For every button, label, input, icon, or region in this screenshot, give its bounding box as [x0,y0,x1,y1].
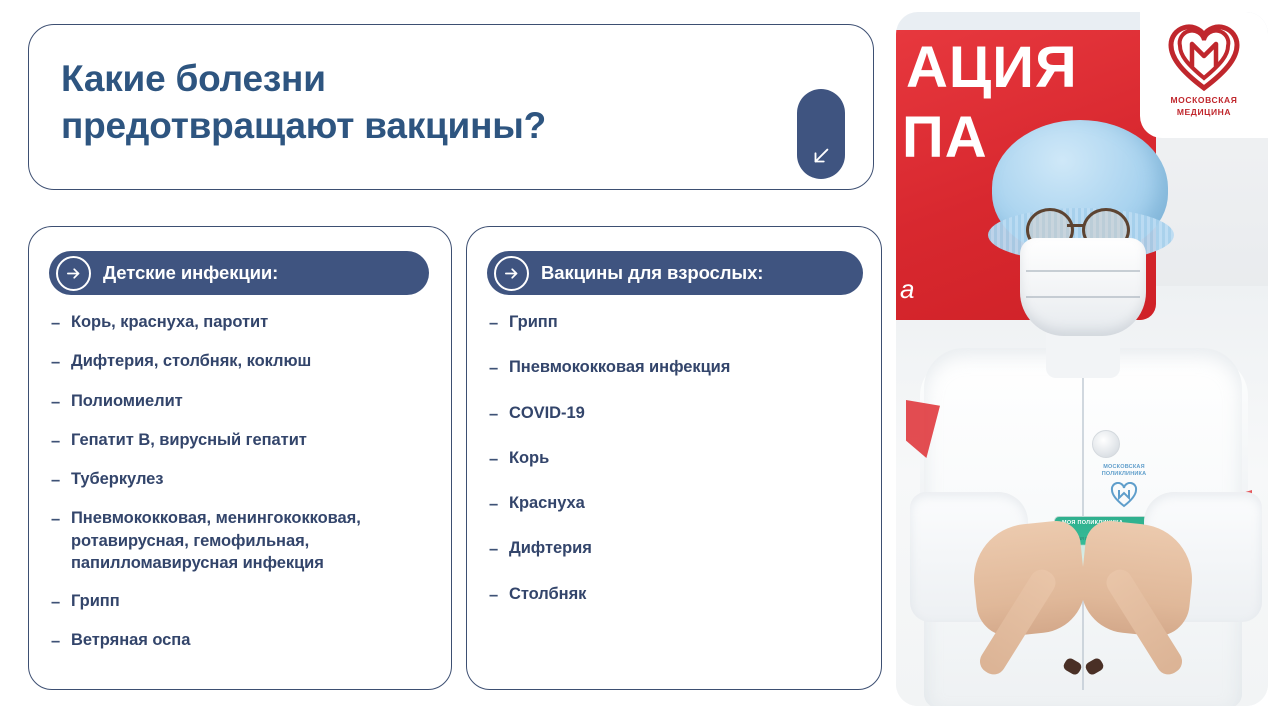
list-bullet: – [489,537,509,560]
badge-heart-icon [1110,482,1138,508]
list-bullet: – [489,402,509,425]
list-bullet: – [489,447,509,470]
list-bullet: – [51,590,71,613]
list-item-label: COVID-19 [509,402,585,424]
list-item-label: Пневмококковая, менингококковая, ротавир… [71,507,437,574]
list-item: – Ветряная оспа [51,629,437,652]
arrow-right-circle-icon [56,256,91,291]
scroll-down-button[interactable] [797,89,845,179]
title-card: Какие болезни предотвращают вакцины? [28,24,874,190]
face-mask [1020,238,1146,336]
list-item: – COVID-19 [489,402,867,425]
moscow-medicine-heart-logo-icon [1168,24,1240,97]
slide-root: Какие болезни предотвращают вакцины? Дет… [0,0,1280,720]
list-item: – Грипп [489,311,867,334]
list-item-label: Краснуха [509,492,585,514]
list-item: – Гепатит B, вирусный гепатит [51,429,437,452]
list-item: – Пневмококковая, менингококковая, ротав… [51,507,437,574]
list-item: – Грипп [51,590,437,613]
glasses-bridge [1067,224,1083,227]
list-item: – Полиомиелит [51,390,437,413]
list-bullet: – [489,492,509,515]
list-bullet: – [489,583,509,606]
arrow-down-left-icon [810,145,832,167]
list-bullet: – [51,629,71,652]
list-item: – Столбняк [489,583,867,606]
list-bullet: – [51,311,71,334]
badge-reel-icon [1092,430,1120,458]
list-item-label: Дифтерия [509,537,592,559]
face-mask-fold [1026,270,1140,272]
list-item-label: Столбняк [509,583,586,605]
list-bullet: – [489,356,509,379]
list-item-label: Туберкулез [71,468,163,490]
list-item-label: Пневмококковая инфекция [509,356,730,378]
card-header-label: Вакцины для взрослых: [541,262,763,284]
list-item: – Корь [489,447,867,470]
list-item: – Пневмококковая инфекция [489,356,867,379]
adult-vaccines-list: – Грипп – Пневмококковая инфекция – COVI… [489,311,867,628]
page-title: Какие болезни предотвращают вакцины? [61,55,761,150]
list-item: – Туберкулез [51,468,437,491]
moscow-medicine-logo-text: МОСКОВСКАЯ МЕДИЦИНА [1140,94,1268,119]
card-adult-vaccines: Вакцины для взрослых: – Грипп – Пневмоко… [466,226,882,690]
list-item-label: Грипп [71,590,120,612]
list-bullet: – [51,507,71,530]
list-item-label: Полиомиелит [71,390,183,412]
children-infections-list: – Корь, краснуха, паротит – Дифтерия, ст… [51,311,437,669]
list-item: – Корь, краснуха, паротит [51,311,437,334]
list-item-label: Гепатит B, вирусный гепатит [71,429,307,451]
list-item: – Дифтерия, столбняк, коклюш [51,350,437,373]
list-bullet: – [489,311,509,334]
card-header-children-infections[interactable]: Детские инфекции: [49,251,429,295]
list-item-label: Ветряная оспа [71,629,190,651]
arrow-right-circle-icon [494,256,529,291]
list-item-label: Грипп [509,311,558,333]
list-bullet: – [51,468,71,491]
list-bullet: – [51,350,71,373]
list-bullet: – [51,390,71,413]
list-item-label: Корь [509,447,549,469]
card-header-label: Детские инфекции: [103,262,278,284]
face-mask-fold [1026,296,1140,298]
list-item-label: Корь, краснуха, паротит [71,311,268,333]
card-header-adult-vaccines[interactable]: Вакцины для взрослых: [487,251,863,295]
list-item: – Краснуха [489,492,867,515]
medical-worker-photo: АЦИЯ ПА а МОСКОВСКАЯ ПОЛИКЛИНИКА [896,12,1268,706]
list-item: – Дифтерия [489,537,867,560]
card-children-infections: Детские инфекции: – Корь, краснуха, паро… [28,226,452,690]
badge-clinic-logo-text: МОСКОВСКАЯ ПОЛИКЛИНИКА [1100,464,1148,478]
list-bullet: – [51,429,71,452]
list-item-label: Дифтерия, столбняк, коклюш [71,350,311,372]
logo-cutout: МОСКОВСКАЯ МЕДИЦИНА [1140,12,1268,138]
